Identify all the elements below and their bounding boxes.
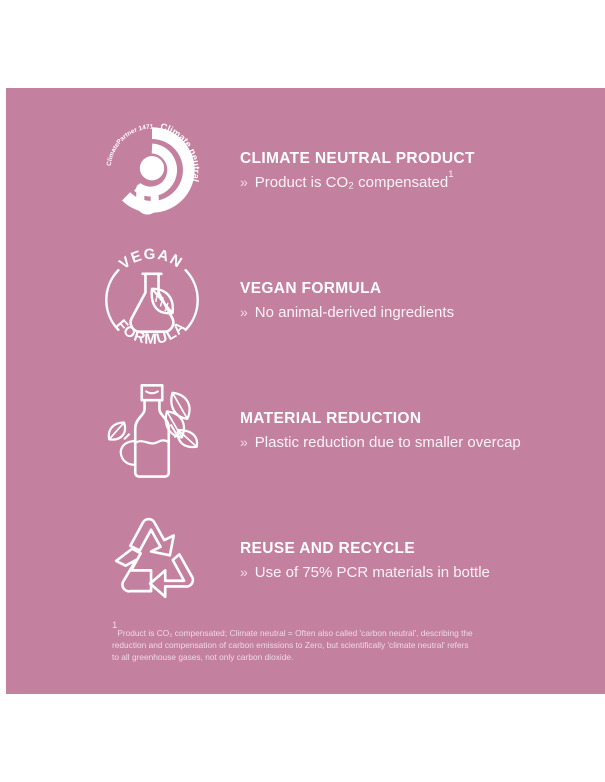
footnote-line-2: reduction and compensation of carbon emi…	[112, 640, 512, 652]
footnote-marker: 1	[112, 620, 117, 631]
claim-detail-text: No animal-derived ingredients	[255, 304, 454, 322]
claims-panel: ClimatePartner 14717-2005-1001 Climate n…	[6, 88, 605, 694]
svg-text:VEGAN: VEGAN	[116, 246, 186, 273]
claim-text-vegan-formula: VEGAN FORMULA » No animal-derived ingred…	[219, 278, 454, 321]
claim-row-material-reduction: MATERIAL REDUCTION » Plastic reduction d…	[6, 370, 605, 490]
recycle-triangle-icon	[84, 500, 219, 620]
claim-heading: MATERIAL REDUCTION	[240, 410, 521, 428]
claim-detail-text: Use of 75% PCR materials in bottle	[255, 564, 490, 582]
climate-neutral-badge-icon: ClimatePartner 14717-2005-1001 Climate n…	[84, 110, 219, 230]
bullet-glyph: »	[240, 434, 248, 451]
svg-text:FORMULA: FORMULA	[112, 316, 189, 348]
bottle-with-leaves-icon	[84, 370, 219, 490]
bullet-glyph: »	[240, 304, 248, 321]
claim-detail-text: Product is CO₂ compensated1	[255, 174, 454, 192]
footnote-line-1: 1Product is CO₂ compensated; Climate neu…	[112, 628, 512, 640]
footnote-block: 1Product is CO₂ compensated; Climate neu…	[112, 628, 512, 663]
claim-heading: VEGAN FORMULA	[240, 280, 454, 298]
claim-heading: REUSE AND RECYCLE	[240, 540, 490, 558]
claim-detail: » Plastic reduction due to smaller overc…	[240, 434, 521, 452]
claim-text-reuse-recycle: REUSE AND RECYCLE » Use of 75% PCR mater…	[219, 538, 490, 581]
bullet-glyph: »	[240, 564, 248, 581]
claim-heading: CLIMATE NEUTRAL PRODUCT	[240, 150, 475, 168]
claim-detail: » Use of 75% PCR materials in bottle	[240, 564, 490, 582]
footnote-marker: 1	[448, 169, 453, 180]
claim-text-climate-neutral: CLIMATE NEUTRAL PRODUCT » Product is CO₂…	[219, 148, 475, 191]
claim-row-climate-neutral: ClimatePartner 14717-2005-1001 Climate n…	[6, 110, 605, 230]
bullet-glyph: »	[240, 174, 248, 191]
svg-text:ClimatePartner 14717-2005-1001: ClimatePartner 14717-2005-1001	[96, 111, 154, 166]
claim-detail: » No animal-derived ingredients	[240, 304, 454, 322]
claim-detail-text: Plastic reduction due to smaller overcap	[255, 434, 521, 452]
claim-row-vegan-formula: VEGAN FORMULA VEGAN FORMULA » No animal-…	[6, 240, 605, 360]
page-root: ClimatePartner 14717-2005-1001 Climate n…	[0, 0, 605, 782]
footnote-line-3: to all greenhouse gases, not only carbon…	[112, 652, 512, 664]
claim-row-reuse-recycle: REUSE AND RECYCLE » Use of 75% PCR mater…	[6, 500, 605, 620]
claim-text-material-reduction: MATERIAL REDUCTION » Plastic reduction d…	[219, 408, 521, 451]
vegan-formula-flask-icon: VEGAN FORMULA	[84, 240, 219, 360]
claim-detail: » Product is CO₂ compensated1	[240, 174, 475, 192]
